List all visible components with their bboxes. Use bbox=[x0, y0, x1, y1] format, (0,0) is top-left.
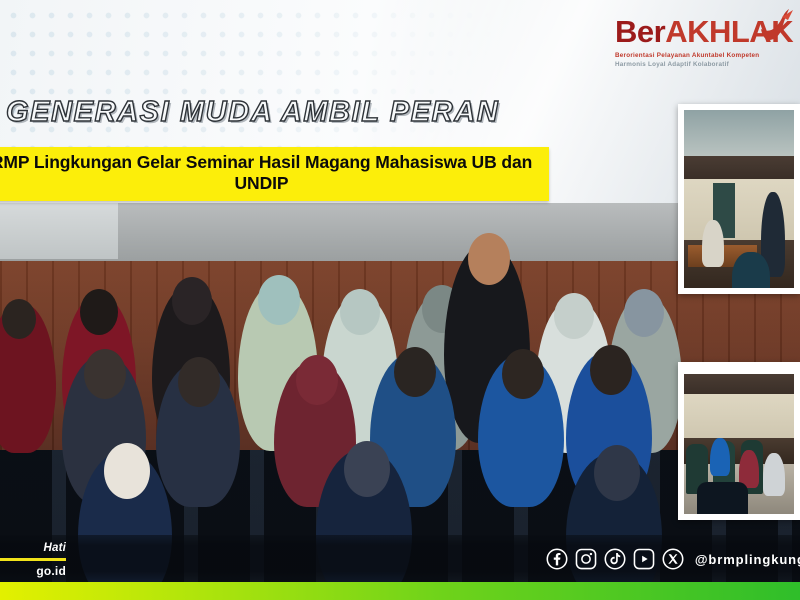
logo-ber: Ber bbox=[615, 14, 665, 49]
footer-tagline: Hati bbox=[0, 542, 66, 554]
inset2-attendee bbox=[763, 453, 785, 497]
youtube-icon[interactable] bbox=[633, 548, 655, 570]
photo-person bbox=[340, 289, 380, 335]
logo-wordmark: BerAKHLAK bbox=[615, 16, 800, 47]
inset2-wall bbox=[684, 394, 794, 438]
photo-person bbox=[624, 289, 664, 337]
headline-banner: RMP Lingkungan Gelar Seminar Hasil Magan… bbox=[0, 147, 549, 201]
inset2-attendee bbox=[710, 438, 730, 476]
seminar-audience-photo-inner bbox=[684, 368, 794, 514]
photo-person bbox=[172, 277, 212, 325]
footer-rule bbox=[0, 558, 66, 561]
x-icon[interactable] bbox=[662, 548, 684, 570]
photo-wall-panel-left bbox=[0, 203, 118, 259]
footer-url: go.id bbox=[0, 564, 66, 578]
inset1-foreground-person bbox=[732, 252, 769, 288]
photo-person bbox=[296, 355, 338, 405]
logo-subtitle: Berorientasi Pelayanan Akuntabel Kompete… bbox=[615, 51, 800, 69]
poster-canvas: BerAKHLAK Berorientasi Pelayanan Akuntab… bbox=[0, 0, 800, 600]
instagram-icon[interactable] bbox=[575, 548, 597, 570]
photo-person bbox=[178, 357, 220, 407]
inset1-ceiling bbox=[684, 110, 794, 156]
photo-person bbox=[502, 349, 544, 399]
photo-person bbox=[104, 443, 150, 499]
photo-person bbox=[590, 345, 632, 395]
photo-person bbox=[594, 445, 640, 501]
logo-subtitle-line1: Berorientasi Pelayanan Akuntabel Kompete… bbox=[615, 52, 759, 59]
inset1-beam bbox=[684, 156, 794, 179]
social-links: @brmplingkunga bbox=[546, 548, 800, 570]
headline-text: RMP Lingkungan Gelar Seminar Hasil Magan… bbox=[0, 152, 539, 194]
photo-person bbox=[80, 289, 118, 335]
photo-person bbox=[554, 293, 594, 339]
berakhlak-logo: BerAKHLAK Berorientasi Pelayanan Akuntab… bbox=[615, 16, 800, 78]
photo-person bbox=[468, 233, 510, 285]
seminar-audience-photo bbox=[678, 362, 800, 520]
logo-akhlak: AKHLAK bbox=[665, 14, 793, 49]
seminar-presenter-photo bbox=[678, 104, 800, 294]
photo-person bbox=[2, 299, 36, 339]
footer-color-strip bbox=[0, 582, 800, 600]
photo-person bbox=[258, 275, 300, 325]
facebook-icon[interactable] bbox=[546, 548, 568, 570]
logo-subtitle-line2: Harmonis Loyal Adaptif Kolaboratif bbox=[615, 61, 729, 68]
photo-person bbox=[84, 349, 126, 399]
photo-person bbox=[344, 441, 390, 497]
photo-person bbox=[394, 347, 436, 397]
seminar-presenter-photo-inner bbox=[684, 110, 794, 288]
tiktok-icon[interactable] bbox=[604, 548, 626, 570]
kicker-text: GENERASI MUDA AMBIL PERAN bbox=[6, 96, 499, 129]
inset2-beam bbox=[684, 374, 794, 394]
inset1-seated-person bbox=[702, 220, 724, 266]
inset2-foreground-chair bbox=[697, 482, 748, 514]
footer-brand: Hati go.id bbox=[0, 542, 66, 578]
social-handle[interactable]: @brmplingkunga bbox=[695, 552, 800, 567]
